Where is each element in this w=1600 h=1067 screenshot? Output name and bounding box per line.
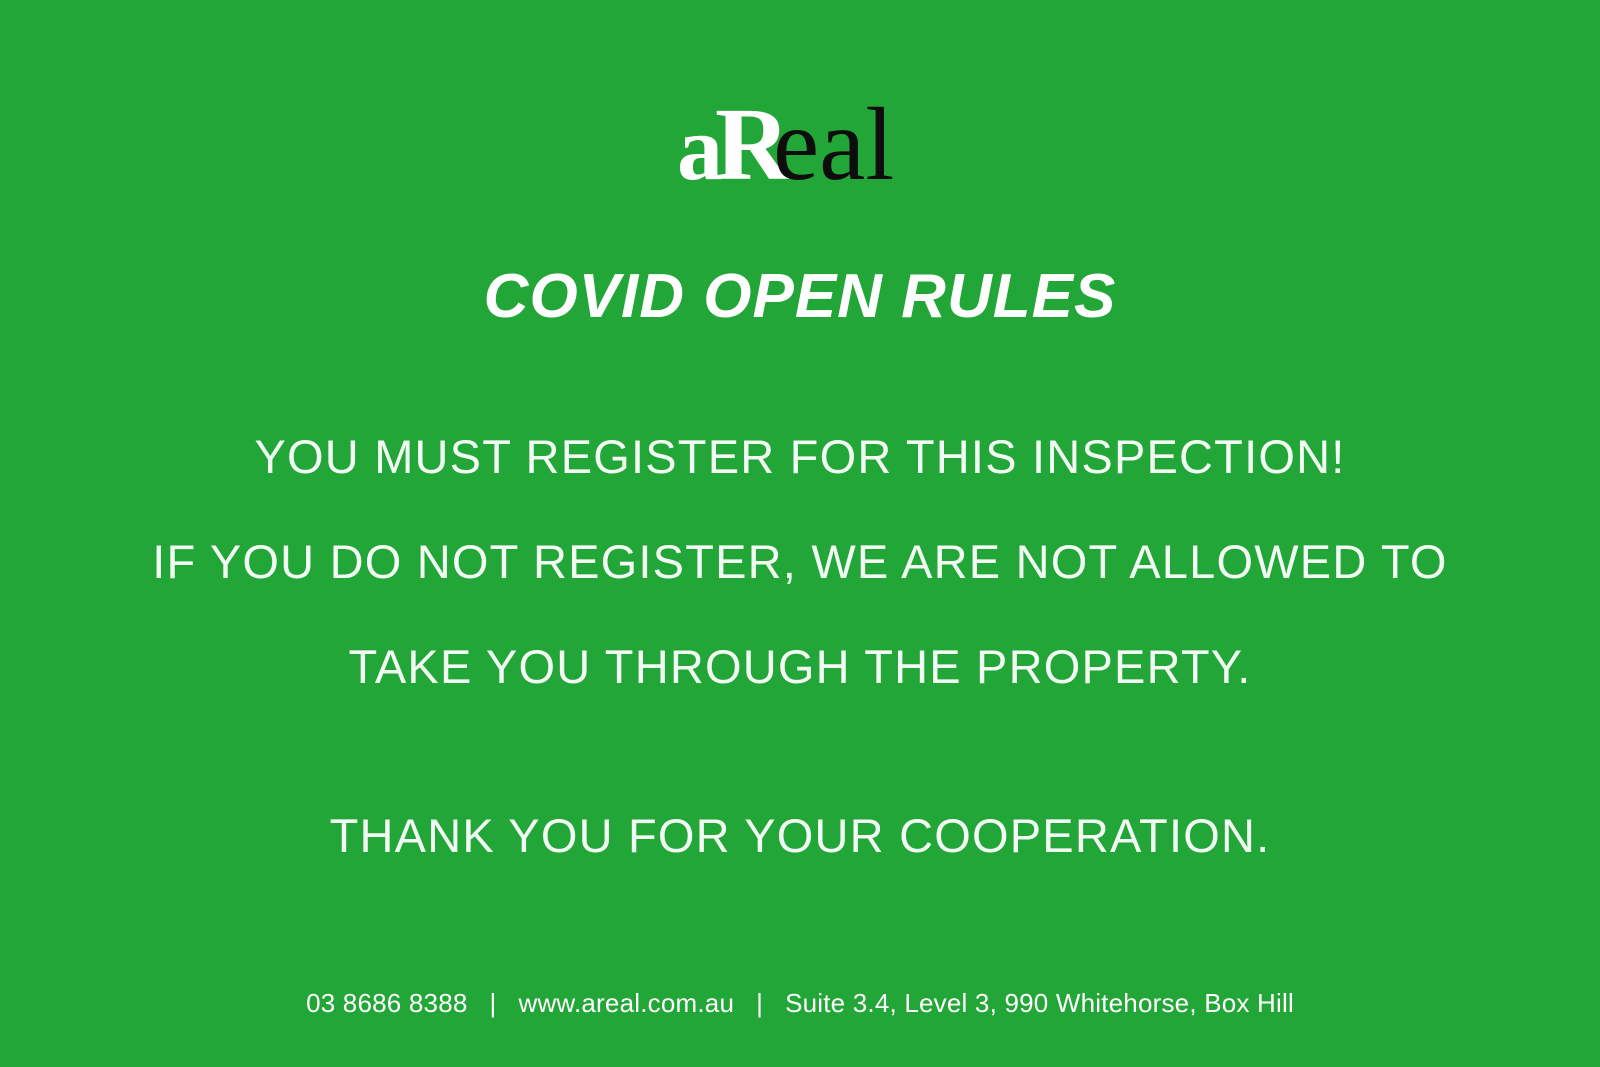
- footer-address: Suite 3.4, Level 3, 990 Whitehorse, Box …: [785, 988, 1294, 1019]
- footer-website[interactable]: www.areal.com.au: [518, 988, 734, 1019]
- body-line-3: TAKE YOU THROUGH THE PROPERTY.: [0, 614, 1600, 719]
- footer-contact-bar: 03 8686 8388|www.areal.com.au|Suite 3.4,…: [0, 988, 1600, 1019]
- footer-separator-2: |: [734, 988, 785, 1019]
- body-line-1: YOU MUST REGISTER FOR THIS INSPECTION!: [0, 404, 1600, 509]
- body-copy: YOU MUST REGISTER FOR THIS INSPECTION! I…: [0, 404, 1600, 888]
- covid-open-rules-poster: a R eal COVID OPEN RULES YOU MUST REGIST…: [0, 0, 1600, 1067]
- footer-phone: 03 8686 8388: [306, 988, 467, 1019]
- brand-logo-block: a R eal: [0, 66, 1600, 206]
- body-line-4: THANK YOU FOR YOUR COOPERATION.: [0, 783, 1600, 888]
- footer-separator-1: |: [468, 988, 519, 1019]
- svg-text:eal: eal: [773, 87, 894, 202]
- areal-logo: a R eal: [675, 71, 925, 206]
- page-title: COVID OPEN RULES: [0, 264, 1600, 329]
- body-line-2: IF YOU DO NOT REGISTER, WE ARE NOT ALLOW…: [0, 509, 1600, 614]
